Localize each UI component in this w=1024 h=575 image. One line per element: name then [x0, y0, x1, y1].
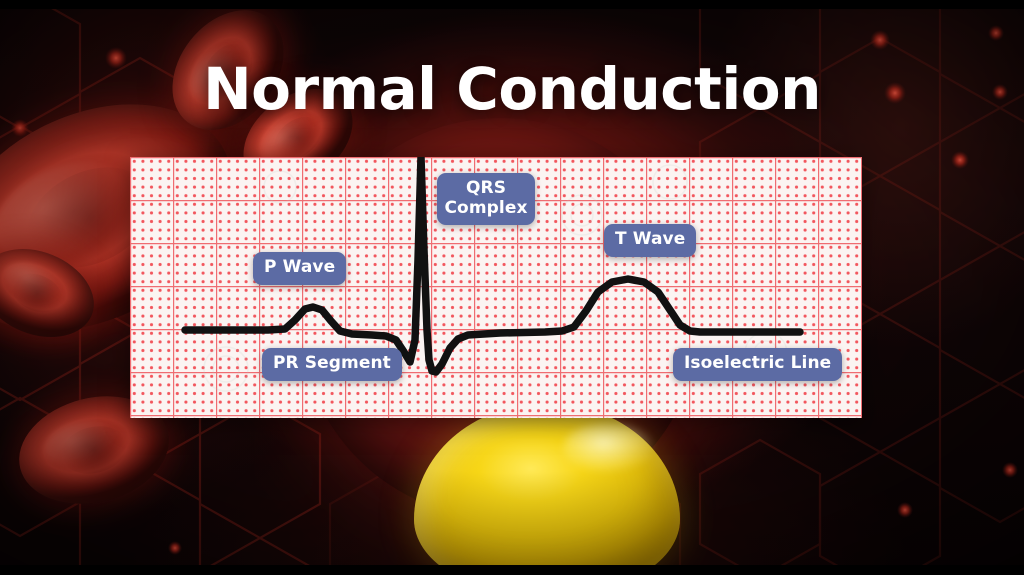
- callout-isoelectric-line[interactable]: Isoelectric Line: [673, 348, 842, 381]
- slide-canvas: Normal Conduction: [0, 0, 1024, 575]
- callout-p-wave[interactable]: P Wave: [253, 252, 346, 285]
- callout-pr-segment[interactable]: PR Segment: [262, 348, 402, 381]
- letterbox-top: [0, 0, 1024, 9]
- callout-t-wave[interactable]: T Wave: [604, 224, 696, 257]
- letterbox-bottom: [0, 565, 1024, 575]
- page-title: Normal Conduction: [0, 55, 1024, 123]
- callout-qrs-complex[interactable]: QRS Complex: [437, 173, 535, 225]
